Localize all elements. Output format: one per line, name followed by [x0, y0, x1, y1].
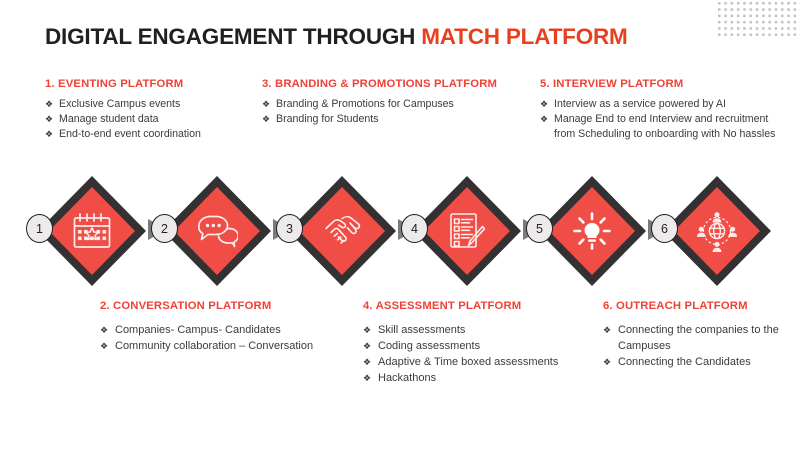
- bullet-diamond-icon: ❖: [540, 97, 548, 112]
- block-branding-promotions-platform: 3. BRANDING & PROMOTIONS PLATFORM ❖Brand…: [262, 78, 527, 127]
- bullet-diamond-icon: ❖: [45, 127, 53, 142]
- list-item: ❖End-to-end event coordination: [45, 127, 270, 142]
- bullet-diamond-icon: ❖: [262, 112, 270, 127]
- handshake-icon: [321, 209, 363, 253]
- block-assessment-platform: 4. ASSESSMENT PLATFORM ❖Skill assessment…: [363, 300, 608, 387]
- node-badge-6: 6: [651, 214, 678, 243]
- bullet-diamond-icon: ❖: [363, 339, 371, 354]
- block-heading: 6. OUTREACH PLATFORM: [603, 300, 793, 312]
- block-list: ❖Companies- Campus- Candidates ❖Communit…: [100, 323, 335, 355]
- list-item: ❖Companies- Campus- Candidates: [100, 323, 335, 339]
- slide-canvas: DIGITAL ENGAGEMENT THROUGH MATCH PLATFOR…: [0, 0, 800, 450]
- list-item-label: Connecting the companies to the Campuses: [618, 324, 779, 352]
- dot-grid-decoration: [718, 2, 800, 36]
- list-item: ❖Community collaboration – Conversation: [100, 339, 335, 355]
- list-item: ❖Manage student data: [45, 112, 270, 127]
- process-node-6[interactable]: 6: [663, 176, 771, 286]
- block-outreach-platform: 6. OUTREACH PLATFORM ❖Connecting the com…: [603, 300, 793, 371]
- block-eventing-platform: 1. EVENTING PLATFORM ❖Exclusive Campus e…: [45, 78, 270, 142]
- block-heading: 5. INTERVIEW PLATFORM: [540, 78, 790, 90]
- list-item: ❖Exclusive Campus events: [45, 97, 270, 112]
- bullet-diamond-icon: ❖: [100, 323, 108, 338]
- node-badge-4: 4: [401, 214, 428, 243]
- chat-bubbles-icon: [196, 209, 238, 253]
- list-item-label: Exclusive Campus events: [59, 98, 180, 110]
- list-item: ❖Branding & Promotions for Campuses: [262, 97, 527, 112]
- node-badge-1: 1: [26, 214, 53, 243]
- bullet-diamond-icon: ❖: [363, 323, 371, 338]
- list-item: ❖Hackathons: [363, 371, 608, 387]
- node-badge-2: 2: [151, 214, 178, 243]
- bullet-diamond-icon: ❖: [100, 339, 108, 354]
- block-heading: 2. CONVERSATION PLATFORM: [100, 300, 335, 312]
- bullet-diamond-icon: ❖: [363, 371, 371, 386]
- page-title: DIGITAL ENGAGEMENT THROUGH MATCH PLATFOR…: [45, 24, 628, 50]
- list-item: ❖Connecting the Candidates: [603, 355, 793, 371]
- list-item-label: Hackathons: [378, 372, 436, 384]
- list-item-label: Coding assessments: [378, 340, 480, 352]
- list-item-label: Companies- Campus- Candidates: [115, 324, 281, 336]
- list-item: ❖Connecting the companies to the Campuse…: [603, 323, 793, 354]
- block-list: ❖Interview as a service powered by AI ❖M…: [540, 97, 790, 141]
- bullet-diamond-icon: ❖: [45, 112, 53, 127]
- block-list: ❖Exclusive Campus events ❖Manage student…: [45, 97, 270, 142]
- list-item: ❖Adaptive & Time boxed assessments: [363, 355, 608, 371]
- bullet-diamond-icon: ❖: [603, 323, 611, 338]
- block-heading: 3. BRANDING & PROMOTIONS PLATFORM: [262, 78, 527, 90]
- bullet-diamond-icon: ❖: [45, 97, 53, 112]
- list-item-label: Interview as a service powered by AI: [554, 98, 726, 110]
- globe-network-icon: [696, 209, 738, 253]
- node-badge-5: 5: [526, 214, 553, 243]
- bullet-diamond-icon: ❖: [603, 355, 611, 370]
- page-title-accent: MATCH PLATFORM: [421, 24, 627, 49]
- block-interview-platform: 5. INTERVIEW PLATFORM ❖Interview as a se…: [540, 78, 790, 142]
- list-item: ❖Manage End to end Interview and recruit…: [540, 112, 790, 141]
- block-conversation-platform: 2. CONVERSATION PLATFORM ❖Companies- Cam…: [100, 300, 335, 355]
- list-item-label: Connecting the Candidates: [618, 356, 751, 368]
- list-item: ❖Skill assessments: [363, 323, 608, 339]
- list-item-label: Manage End to end Interview and recruitm…: [554, 113, 775, 140]
- bullet-diamond-icon: ❖: [262, 97, 270, 112]
- list-item: ❖Coding assessments: [363, 339, 608, 355]
- calendar-star-icon: [71, 209, 113, 253]
- lightbulb-rays-icon: [571, 209, 613, 253]
- checklist-pencil-icon: [446, 209, 488, 253]
- list-item-label: Skill assessments: [378, 324, 465, 336]
- list-item-label: Community collaboration – Conversation: [115, 340, 313, 352]
- block-heading: 4. ASSESSMENT PLATFORM: [363, 300, 608, 312]
- list-item-label: Branding for Students: [276, 113, 378, 125]
- bullet-diamond-icon: ❖: [540, 112, 548, 127]
- block-heading: 1. EVENTING PLATFORM: [45, 78, 270, 90]
- process-node-1[interactable]: 1: [38, 176, 146, 286]
- process-node-3[interactable]: 3: [288, 176, 396, 286]
- process-node-2[interactable]: 2: [163, 176, 271, 286]
- bullet-diamond-icon: ❖: [363, 355, 371, 370]
- list-item: ❖Branding for Students: [262, 112, 527, 127]
- list-item-label: Adaptive & Time boxed assessments: [378, 356, 558, 368]
- page-title-prefix: DIGITAL ENGAGEMENT THROUGH: [45, 24, 421, 49]
- list-item: ❖Interview as a service powered by AI: [540, 97, 790, 112]
- process-chain: 1 2: [0, 176, 800, 290]
- list-item-label: End-to-end event coordination: [59, 128, 201, 140]
- list-item-label: Branding & Promotions for Campuses: [276, 98, 454, 110]
- process-node-4[interactable]: 4: [413, 176, 521, 286]
- node-badge-3: 3: [276, 214, 303, 243]
- block-list: ❖Skill assessments ❖Coding assessments ❖…: [363, 323, 608, 387]
- list-item-label: Manage student data: [59, 113, 159, 125]
- block-list: ❖Connecting the companies to the Campuse…: [603, 323, 793, 370]
- block-list: ❖Branding & Promotions for Campuses ❖Bra…: [262, 97, 527, 127]
- process-node-5[interactable]: 5: [538, 176, 646, 286]
